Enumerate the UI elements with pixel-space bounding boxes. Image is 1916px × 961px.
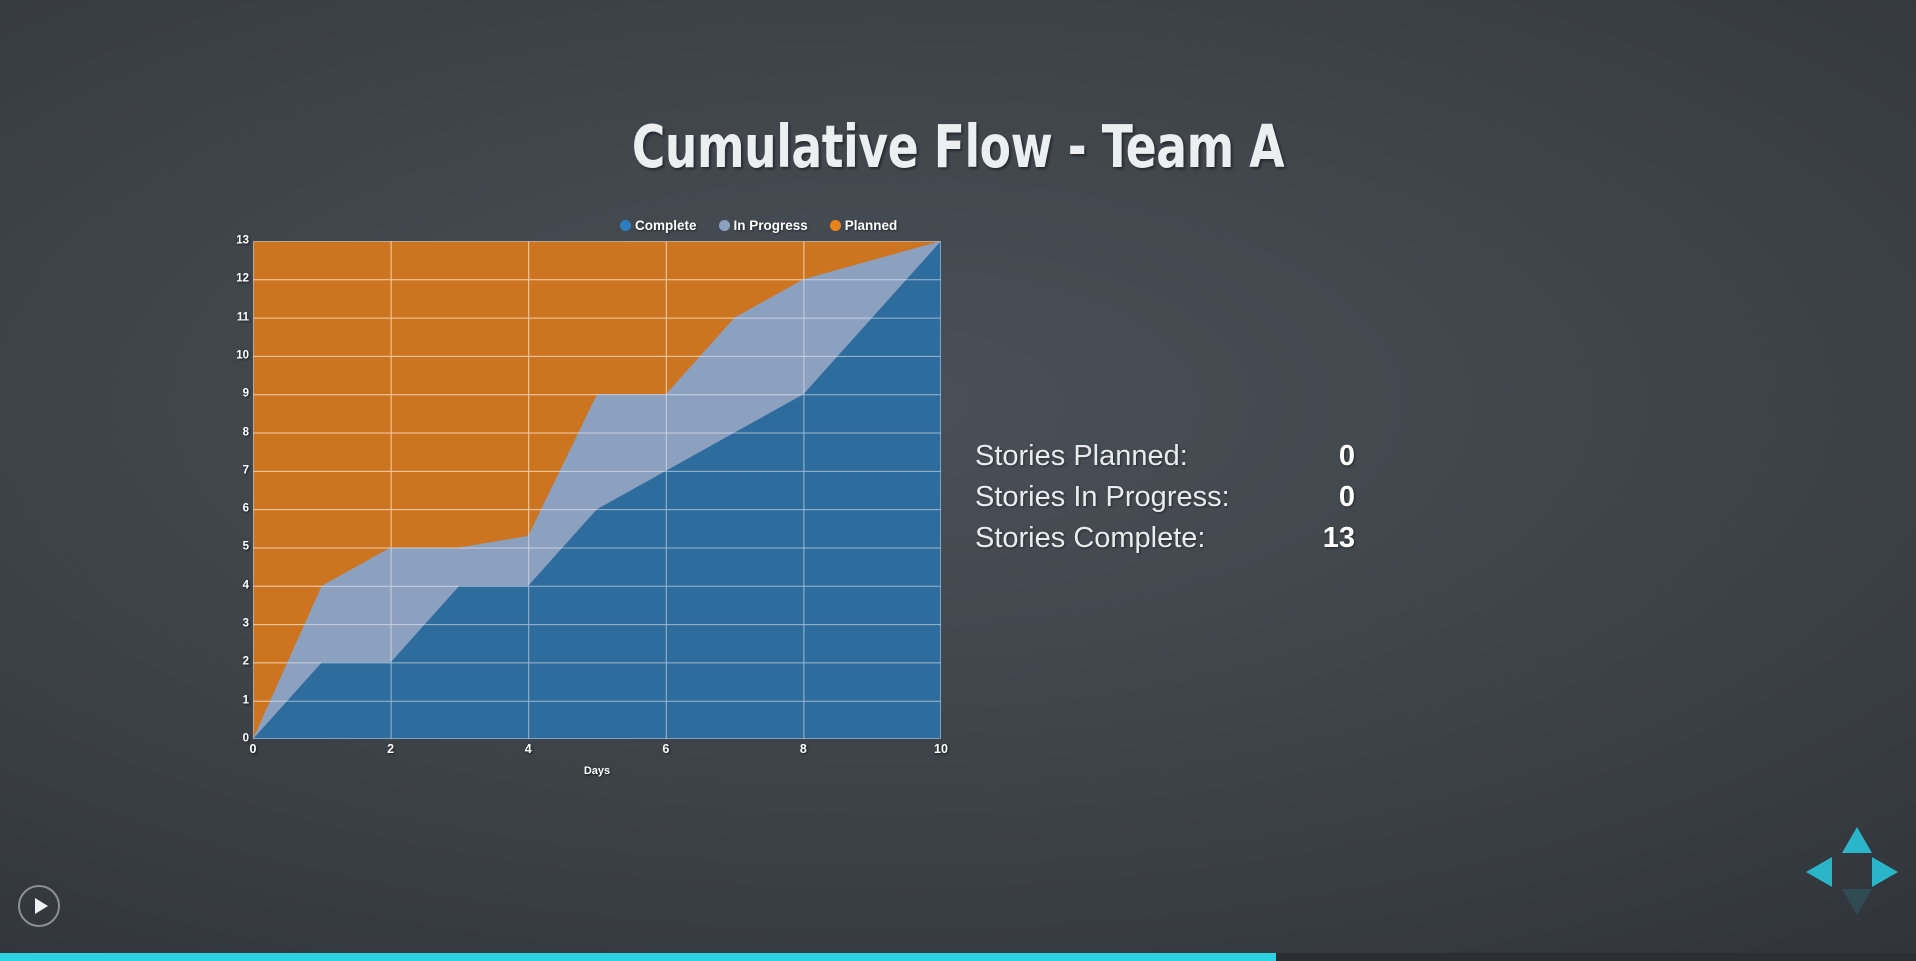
legend-item-in-progress[interactable]: In Progress xyxy=(719,218,808,233)
y-axis-tick: 4 xyxy=(243,580,249,592)
stat-label-in-progress: Stories In Progress: xyxy=(975,481,1230,514)
stat-label-complete: Stories Complete: xyxy=(975,522,1206,555)
x-axis-labels: 0246810 xyxy=(253,743,941,761)
chart-legend: Complete In Progress Planned xyxy=(620,215,897,235)
page-title: Cumulative Flow - Team A xyxy=(134,112,1782,181)
legend-swatch-planned xyxy=(830,220,841,231)
y-axis-tick: 9 xyxy=(243,388,249,400)
x-axis-tick: 2 xyxy=(387,743,394,756)
stat-value-in-progress: 0 xyxy=(1339,481,1395,514)
stat-row-complete: Stories Complete: 13 xyxy=(975,522,1395,563)
navigation-arrows xyxy=(1806,827,1898,919)
y-axis-tick: 6 xyxy=(243,503,249,515)
y-axis-tick: 2 xyxy=(243,657,249,669)
y-axis-tick: 12 xyxy=(236,274,249,286)
presentation-slide: Cumulative Flow - Team A Complete In Pro… xyxy=(0,0,1916,961)
legend-label-in-progress: In Progress xyxy=(734,218,808,233)
chart-plot-area xyxy=(253,241,941,739)
stat-value-planned: 0 xyxy=(1339,440,1395,473)
legend-item-complete[interactable]: Complete xyxy=(620,218,697,233)
stat-label-planned: Stories Planned: xyxy=(975,440,1188,473)
play-button[interactable] xyxy=(18,885,60,927)
y-axis-tick: 1 xyxy=(243,695,249,707)
x-axis-tick: 4 xyxy=(525,743,532,756)
legend-swatch-in-progress xyxy=(719,220,730,231)
x-axis-tick: 6 xyxy=(662,743,669,756)
slide-progress-fill xyxy=(0,953,1276,961)
y-axis-tick: 8 xyxy=(243,427,249,439)
y-axis-tick: 5 xyxy=(243,542,249,554)
cumulative-flow-chart: Complete In Progress Planned 01234567891… xyxy=(230,215,950,785)
stat-row-in-progress: Stories In Progress: 0 xyxy=(975,481,1395,522)
x-axis-title: Days xyxy=(253,765,941,777)
chart-svg xyxy=(253,241,941,739)
legend-swatch-complete xyxy=(620,220,631,231)
stat-row-planned: Stories Planned: 0 xyxy=(975,440,1395,481)
slide-progress-track[interactable] xyxy=(0,953,1916,961)
nav-up-arrow-icon[interactable] xyxy=(1842,827,1872,853)
y-axis-tick: 0 xyxy=(243,733,249,745)
nav-down-arrow-icon xyxy=(1842,889,1872,915)
y-axis-tick: 3 xyxy=(243,618,249,630)
y-axis-tick: 11 xyxy=(237,312,249,324)
nav-right-arrow-icon[interactable] xyxy=(1872,857,1898,887)
legend-item-planned[interactable]: Planned xyxy=(830,218,898,233)
x-axis-tick: 10 xyxy=(934,743,948,756)
x-axis-tick: 8 xyxy=(800,743,807,756)
legend-label-complete: Complete xyxy=(635,218,697,233)
y-axis-tick: 13 xyxy=(236,235,249,247)
x-axis-tick: 0 xyxy=(250,743,257,756)
play-icon xyxy=(35,898,48,914)
nav-left-arrow-icon[interactable] xyxy=(1806,857,1832,887)
y-axis-tick: 10 xyxy=(236,350,249,362)
y-axis-labels: 012345678910111213 xyxy=(230,241,249,739)
legend-label-planned: Planned xyxy=(845,218,898,233)
y-axis-tick: 7 xyxy=(243,465,249,477)
stat-value-complete: 13 xyxy=(1323,522,1395,555)
stats-panel: Stories Planned: 0 Stories In Progress: … xyxy=(975,440,1395,563)
